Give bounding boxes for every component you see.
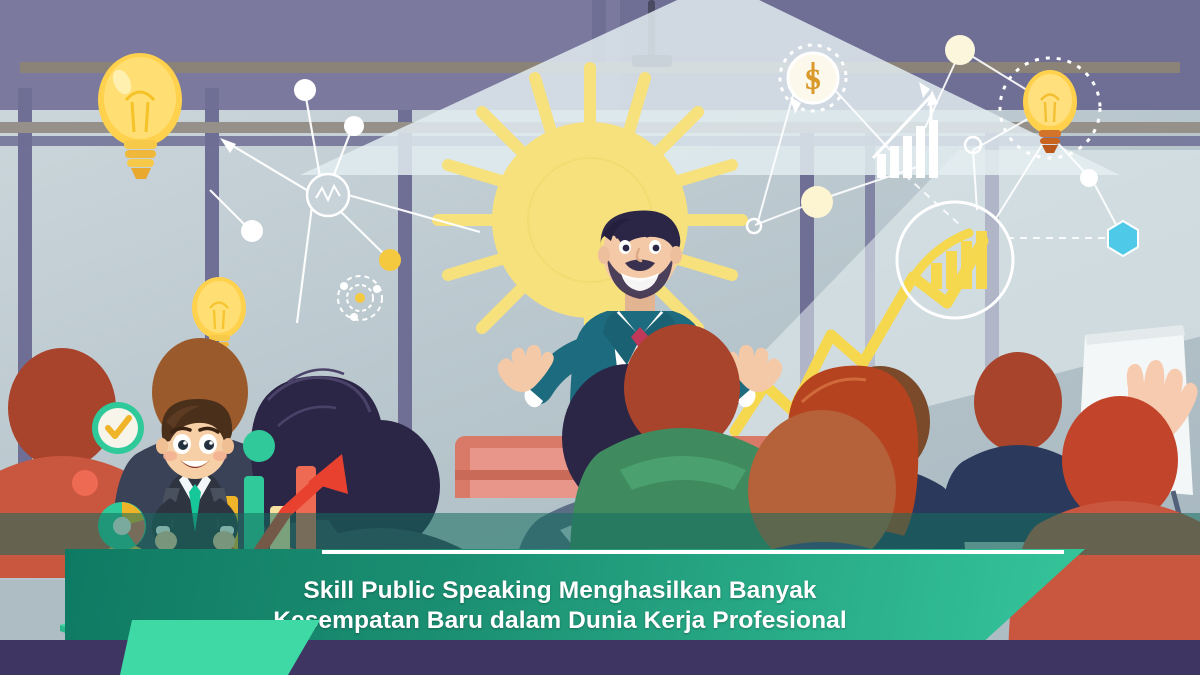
illustration-banner-image: S (0, 0, 1200, 675)
lightbulb-icon (88, 48, 193, 183)
banner-overlay-band (0, 513, 1200, 555)
lightbulb-circle-icon (1000, 58, 1100, 158)
dollar-coin-icon: S (780, 45, 846, 111)
network-dot-yellow (379, 249, 401, 271)
dot-orange (72, 470, 98, 496)
network-dot (945, 35, 975, 65)
network-dot (344, 116, 364, 136)
network-dot (294, 79, 316, 101)
network-node-icon (307, 174, 349, 216)
clock-check-icon (90, 400, 146, 456)
banner-rule (322, 550, 1064, 554)
hexagon-node-icon (1108, 221, 1138, 256)
network-dot (241, 220, 263, 242)
molecule-icon (338, 276, 382, 321)
3d-platform-foot (120, 620, 320, 675)
bar-chart-icon (873, 90, 938, 178)
